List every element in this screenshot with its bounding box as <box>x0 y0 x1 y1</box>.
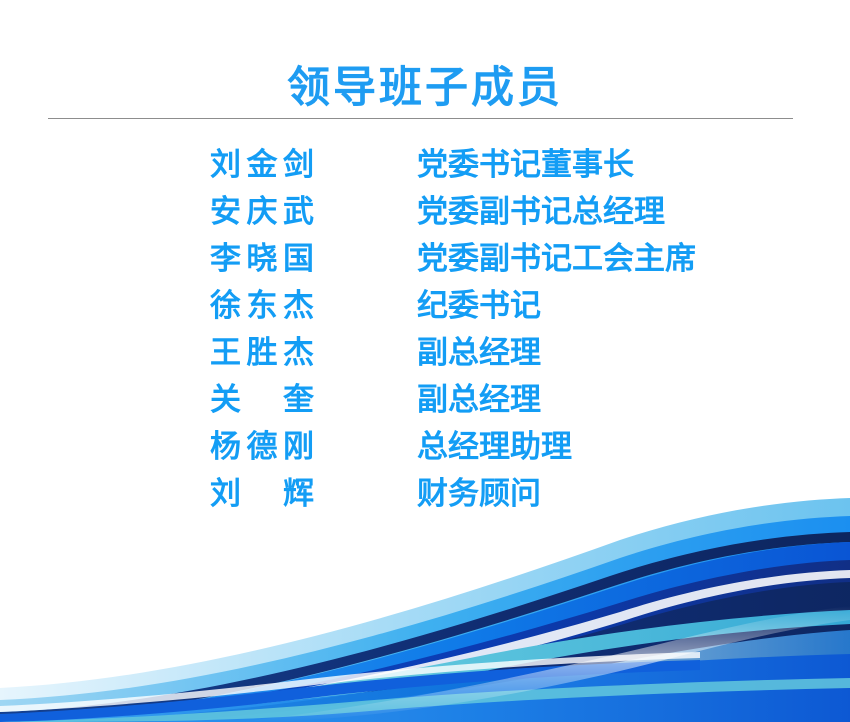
member-title: 党委书记董事长 <box>417 145 634 185</box>
member-title: 财务顾问 <box>417 474 541 514</box>
wave-highlight-diagonal <box>240 606 850 722</box>
member-name: 刘辉 <box>210 474 314 514</box>
wave-band-navy-accent <box>0 532 850 722</box>
member-name: 王胜杰 <box>210 333 314 373</box>
member-title: 纪委书记 <box>417 286 541 326</box>
wave-highlight-sliver <box>0 570 850 722</box>
member-name: 刘金剑 <box>210 145 314 185</box>
header-divider <box>48 118 793 119</box>
wave-band-deep <box>0 560 850 722</box>
list-item: 刘辉 财务顾问 <box>0 474 850 521</box>
decorative-wave-graphic <box>0 492 850 722</box>
member-name: 杨德刚 <box>210 427 314 467</box>
member-title: 副总经理 <box>417 380 541 420</box>
wave-band-bright <box>0 542 850 722</box>
member-name: 关奎 <box>210 380 314 420</box>
list-item: 王胜杰 副总经理 <box>0 333 850 380</box>
leadership-roster-slide: 领导班子成员 刘金剑 党委书记董事长 安庆武 党委副书记总经理 李晓国 党委副书… <box>0 0 850 722</box>
member-title: 党委副书记总经理 <box>417 192 665 232</box>
list-item: 徐东杰 纪委书记 <box>0 286 850 333</box>
wave-gap-white <box>0 652 700 712</box>
list-item: 李晓国 党委副书记工会主席 <box>0 239 850 286</box>
list-item: 刘金剑 党委书记董事长 <box>0 145 850 192</box>
wave-glow-lower <box>150 630 850 722</box>
member-title: 总经理助理 <box>417 427 572 467</box>
roster-list: 刘金剑 党委书记董事长 安庆武 党委副书记总经理 李晓国 党委副书记工会主席 徐… <box>0 145 850 521</box>
wave-band-pale <box>0 498 850 712</box>
member-name: 安庆武 <box>210 192 314 232</box>
member-title: 副总经理 <box>417 333 541 373</box>
member-title: 党委副书记工会主席 <box>417 239 696 279</box>
list-item: 关奎 副总经理 <box>0 380 850 427</box>
wave-band-sky <box>0 516 850 722</box>
wave-ribbon-teal-bottom <box>0 678 850 722</box>
wave-band-navy-core <box>80 582 850 722</box>
list-item: 杨德刚 总经理助理 <box>0 427 850 474</box>
member-name: 徐东杰 <box>210 286 314 326</box>
list-item: 安庆武 党委副书记总经理 <box>0 192 850 239</box>
page-title: 领导班子成员 <box>0 65 850 112</box>
wave-ribbon-medium <box>0 660 700 722</box>
member-name: 李晓国 <box>210 239 314 279</box>
wave-band-bottom-bright <box>0 654 850 722</box>
wave-band-teal <box>0 610 850 722</box>
